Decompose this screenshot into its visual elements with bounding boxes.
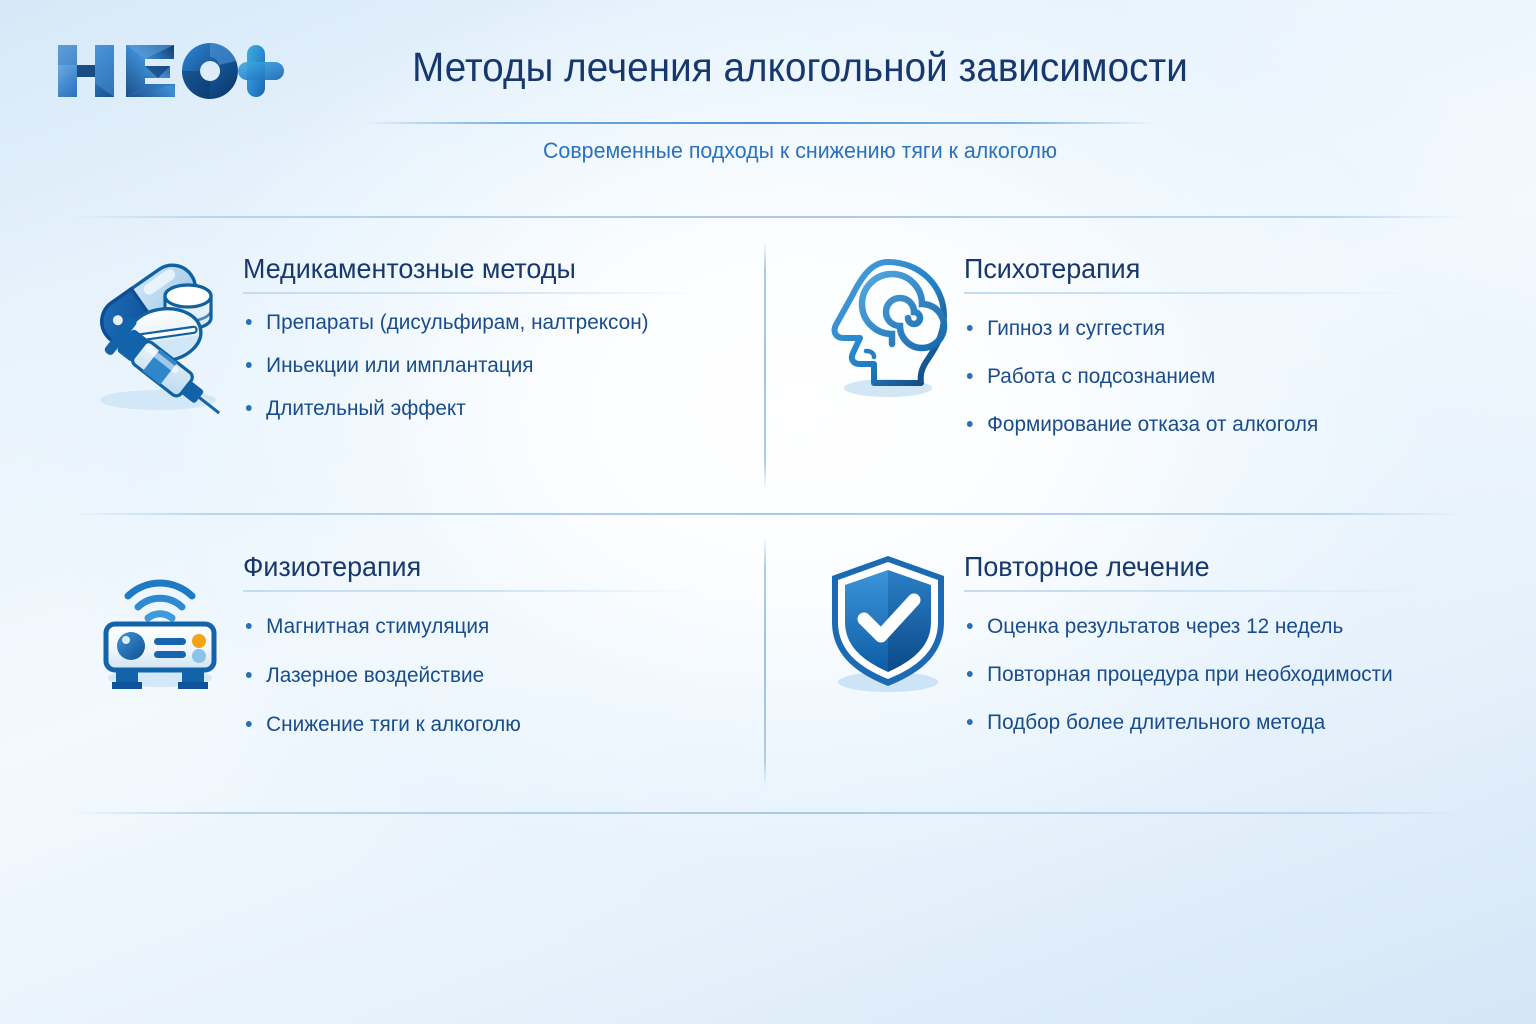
card-povtornoe-lechenie: Повторное лечение Оценка результатов чер… [812,546,1472,758]
card-bullet-list: Магнитная стимуляция Лазерное воздействи… [243,614,738,736]
list-item: Магнитная стимуляция [243,614,721,639]
head-spiral-hypnosis-icon [812,248,964,412]
card-body: Медикаментозные методы Препараты (дисуль… [243,248,738,439]
card-body: Психотерапия Гипноз и суггестия Работа с… [964,248,1472,460]
list-item: Работа с подсознанием [964,364,1454,389]
card-title-underline [243,292,698,294]
list-item: Лазерное воздействие [243,663,721,688]
card-psihoterapiya: Психотерапия Гипноз и суггестия Работа с… [812,248,1472,460]
shield-check-icon [812,546,964,702]
card-body: Повторное лечение Оценка результатов чер… [964,546,1472,758]
card-bullet-list: Оценка результатов через 12 недель Повто… [964,614,1472,734]
divider-vertical-row2 [764,537,766,787]
list-item: Снижение тяги к алкоголю [243,712,721,737]
card-title-underline [964,292,1419,294]
page-title: Методы лечения алкогольной зависимости [330,44,1270,91]
card-title: Медикаментозные методы [243,254,718,283]
therapy-device-waves-icon [78,546,243,700]
card-title: Физиотерапия [243,552,718,581]
list-item: Повторная процедура при необходимости [964,662,1454,687]
divider-middle [70,513,1466,515]
card-title: Повторное лечение [964,552,1452,581]
card-title: Психотерапия [964,254,1452,283]
card-bullet-list: Гипноз и суггестия Работа с подсознанием… [964,316,1472,436]
card-title-underline [243,590,698,592]
list-item: Препараты (дисульфирам, налтрексон) [243,310,721,335]
list-item: Оценка результатов через 12 недель [964,614,1454,639]
card-title-underline [964,590,1419,592]
list-item: Длительный эффект [243,396,721,421]
card-body: Физиотерапия Магнитная стимуляция Лазерн… [243,546,738,761]
card-bullet-list: Препараты (дисульфирам, налтрексон) Инье… [243,310,738,420]
divider-vertical-row1 [764,240,766,490]
divider-bottom [70,812,1466,814]
card-fizioterapiya: Физиотерапия Магнитная стимуляция Лазерн… [78,546,738,761]
card-medikamentoznye: Медикаментозные методы Препараты (дисуль… [78,248,738,439]
list-item: Формирование отказа от алкоголя [964,412,1454,437]
page-subtitle: Современные подходы к снижению тяги к ал… [325,138,1275,164]
title-divider [365,122,1155,124]
list-item: Подбор более длительного метода [964,710,1454,735]
neo-plus-logo [52,37,292,105]
divider-top [70,216,1466,218]
list-item: Гипноз и суггестия [964,316,1454,341]
infographic-canvas: Методы лечения алкогольной зависимости С… [0,0,1536,1024]
pills-syringe-icon [78,248,243,417]
list-item: Иньекции или имплантация [243,353,721,378]
